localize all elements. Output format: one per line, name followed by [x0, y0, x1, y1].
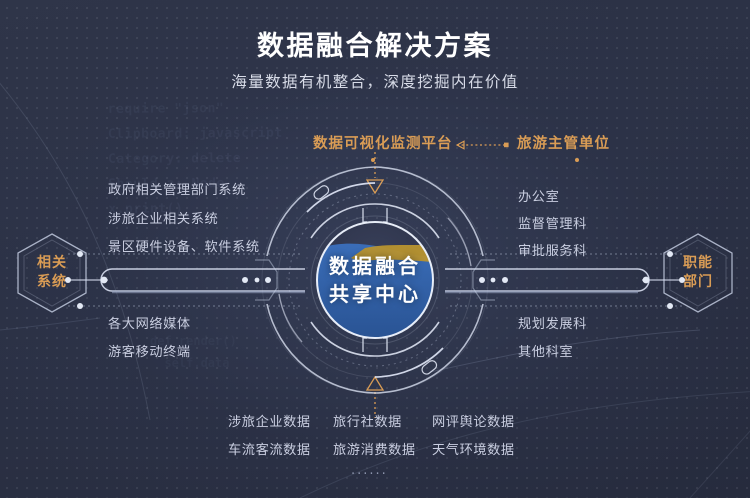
- watermark-line-1: require "json": [108, 101, 225, 117]
- label-visualization-platform[interactable]: 数据可视化监测平台: [313, 132, 453, 153]
- left-item-0[interactable]: 政府相关管理部门系统: [108, 179, 246, 198]
- hexagon-functional-departments[interactable]: 职能 部门: [660, 231, 736, 315]
- dotted-arrow-left-icon: [447, 140, 511, 150]
- hexagon-left-line-2: 系统: [37, 273, 67, 292]
- right-item-1[interactable]: 监督管理科: [518, 213, 587, 232]
- infographic-canvas: require "json" Clipboard: javascript Cat…: [0, 0, 750, 498]
- page-subtitle: 海量数据有机整合，深度挖掘内在价值: [0, 70, 750, 92]
- bottom-cell-r1-c0[interactable]: 车流客流数据: [228, 439, 311, 458]
- right-item-4[interactable]: 其他科室: [518, 341, 573, 360]
- hexagon-left-line-1: 相关: [37, 254, 67, 273]
- left-item-2[interactable]: 景区硬件设备、软件系统: [108, 236, 260, 255]
- hexagon-related-systems[interactable]: 相关 系统: [14, 231, 90, 315]
- page-title: 数据融合解决方案: [0, 24, 750, 63]
- hexagon-right-line-2: 部门: [683, 273, 713, 292]
- right-item-0[interactable]: 办公室: [518, 186, 559, 205]
- right-item-3[interactable]: 规划发展科: [518, 313, 587, 332]
- bottom-cell-r0-c0[interactable]: 涉旅企业数据: [228, 411, 311, 430]
- top-label-row: 数据可视化监测平台 旅游主管单位: [0, 132, 750, 154]
- right-item-2[interactable]: 审批服务科: [518, 240, 587, 259]
- bottom-cell-r1-c1[interactable]: 旅游消费数据: [333, 439, 416, 458]
- hexagon-right-text: 职能 部门: [660, 231, 736, 315]
- bottom-cell-r0-c1[interactable]: 旅行社数据: [333, 411, 402, 430]
- hexagon-right-line-1: 职能: [683, 254, 713, 273]
- bottom-ellipsis: ......: [351, 463, 388, 478]
- label-tourism-authority[interactable]: 旅游主管单位: [517, 132, 610, 153]
- left-item-4[interactable]: 游客移动终端: [108, 341, 191, 360]
- hexagon-left-text: 相关 系统: [14, 231, 90, 315]
- central-data-hub[interactable]: 数据融合 共享中心: [255, 160, 495, 400]
- left-item-1[interactable]: 涉旅企业相关系统: [108, 208, 218, 227]
- left-item-3[interactable]: 各大网络媒体: [108, 313, 191, 332]
- bottom-cell-r0-c2[interactable]: 网评舆论数据: [432, 411, 515, 430]
- bottom-cell-r1-c2[interactable]: 天气环境数据: [432, 439, 515, 458]
